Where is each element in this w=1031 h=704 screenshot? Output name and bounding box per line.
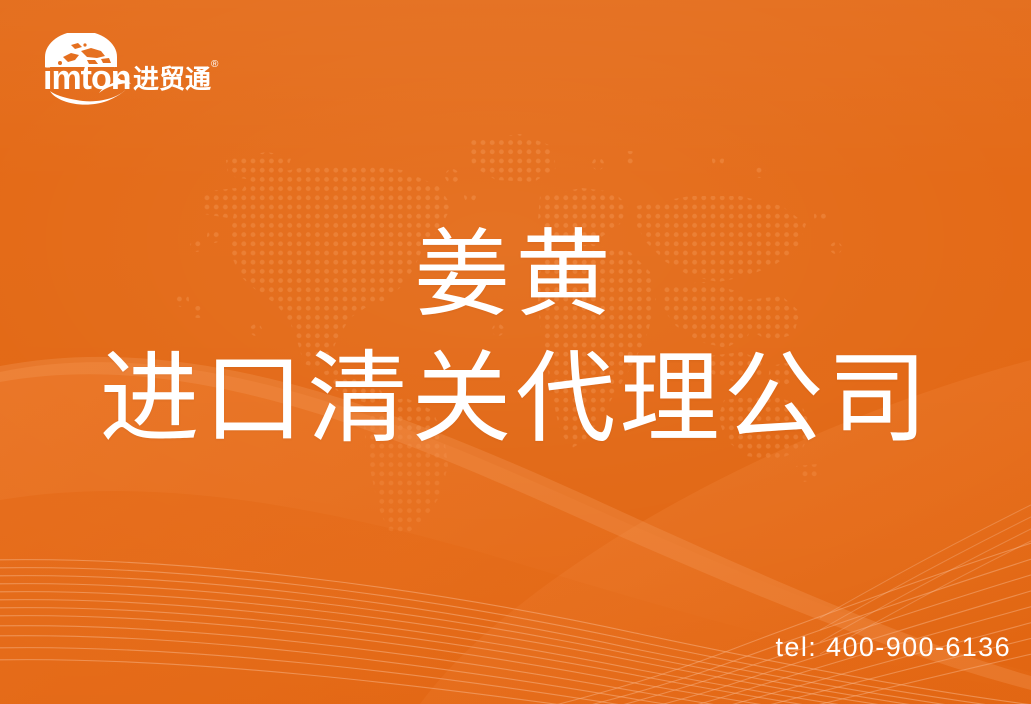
svg-text:®: ® bbox=[211, 59, 219, 70]
contact-phone[interactable]: tel: 400-900-6136 bbox=[776, 632, 1011, 663]
line-fan-decor bbox=[0, 0, 1031, 704]
brand-logo[interactable]: imton 进贸通 ® imton 进贸通 ® bbox=[41, 33, 221, 105]
svg-text:进贸通: 进贸通 bbox=[133, 64, 211, 94]
promo-banner: imton 进贸通 ® imton 进贸通 ® 姜黄 进口清关代理公司 tel:… bbox=[0, 0, 1031, 704]
